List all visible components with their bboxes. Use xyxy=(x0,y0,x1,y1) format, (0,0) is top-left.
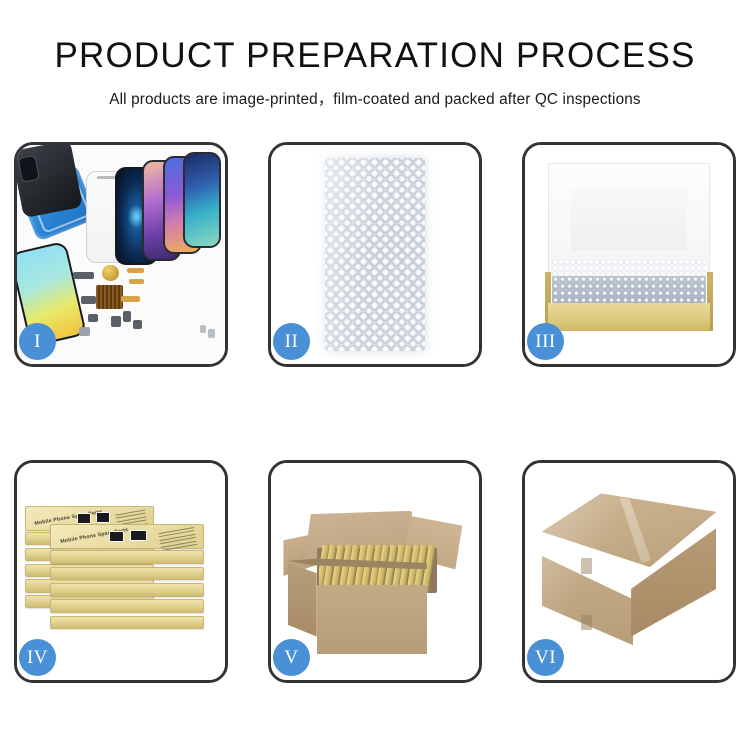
process-step-2[interactable]: II xyxy=(268,142,482,367)
carton-seam-icon xyxy=(581,558,591,573)
small-part-icon xyxy=(133,320,141,329)
small-part-icon xyxy=(123,311,131,322)
bubble-wrap-sheet-icon xyxy=(325,158,425,351)
process-step-1[interactable]: I xyxy=(14,142,228,367)
step-badge-3: III xyxy=(527,323,564,360)
process-step-4[interactable]: Mobile Phone Spare Parts xyxy=(14,460,228,683)
bubble-wrapped-product-icon xyxy=(552,276,706,302)
retail-box-icon xyxy=(50,550,204,564)
carton-front-wall-icon xyxy=(317,585,427,654)
phone-screen-print-icon xyxy=(109,531,124,542)
box-stack-front: Mobile Phone Spare Parts xyxy=(50,524,204,650)
flex-cable-icon xyxy=(121,296,140,301)
process-step-3[interactable]: III xyxy=(522,142,736,367)
phone-screen-print-icon xyxy=(96,512,110,523)
retail-box-icon xyxy=(50,599,204,613)
step-badge-4: IV xyxy=(19,639,56,676)
step-badge-6: VI xyxy=(527,639,564,676)
small-part-icon xyxy=(88,314,98,323)
carton-seam-icon xyxy=(581,615,591,630)
flex-cable-icon xyxy=(127,268,144,273)
process-step-grid: I II xyxy=(14,142,736,683)
speaker-coil-icon xyxy=(102,265,119,280)
small-part-icon xyxy=(81,296,96,304)
box-lid-inner-icon xyxy=(571,188,686,251)
retail-box-icon xyxy=(50,616,204,630)
box-spec-lines xyxy=(158,527,196,544)
process-step-5[interactable]: V xyxy=(268,460,482,683)
retail-box-icon: Mobile Phone Spare Parts xyxy=(50,524,204,549)
box-spec-lines xyxy=(116,510,148,525)
step-badge-5: V xyxy=(273,639,310,676)
phone-screen-print-icon xyxy=(130,530,147,541)
small-part-icon xyxy=(111,316,121,327)
page-subtitle: All products are image-printed，film-coat… xyxy=(0,87,750,109)
header: PRODUCT PREPARATION PROCESS All products… xyxy=(0,0,750,109)
small-part-icon xyxy=(73,272,94,279)
screw-icon xyxy=(208,329,214,338)
box-front-wall-icon xyxy=(548,303,710,331)
connector-chip-icon xyxy=(96,285,123,309)
retail-box-icon xyxy=(50,567,204,581)
flex-cable-icon xyxy=(129,279,144,284)
page-title: PRODUCT PREPARATION PROCESS xyxy=(0,36,750,76)
phone-back-housing-icon xyxy=(17,145,83,218)
step-badge-1: I xyxy=(19,323,56,360)
process-step-6[interactable]: VI xyxy=(522,460,736,683)
screw-icon xyxy=(200,325,206,334)
retail-box-icon xyxy=(50,583,204,597)
phone-screen-print-icon xyxy=(77,513,91,524)
step-badge-2: II xyxy=(273,323,310,360)
product-preparation-infographic: PRODUCT PREPARATION PROCESS All products… xyxy=(0,0,750,750)
phone-gradient-teal-icon xyxy=(183,152,220,248)
carton-side-wall-icon xyxy=(288,563,317,637)
small-part-icon xyxy=(79,327,89,336)
